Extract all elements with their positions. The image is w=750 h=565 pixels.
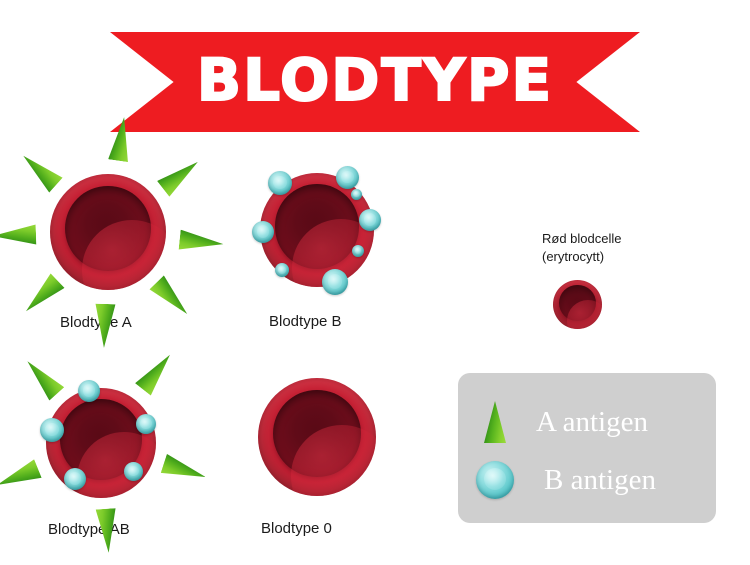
page-title: BLODTYPE <box>110 32 640 132</box>
erythrocyte-figure <box>553 280 603 330</box>
title-banner: BLODTYPE <box>110 32 640 132</box>
b-antigen-bead-icon <box>322 269 348 295</box>
cell-stage-a <box>28 152 188 312</box>
b-antigen-bead-icon <box>268 171 292 195</box>
cell-caption-b: Blodtype B <box>269 313 342 330</box>
cyan-circle-icon <box>476 461 514 499</box>
legend-item-a-antigen: A antigen <box>484 401 648 443</box>
cell-stage-ab <box>26 368 176 518</box>
red-blood-cell-icon <box>46 388 156 498</box>
b-antigen-bead-icon <box>359 209 381 231</box>
b-antigen-bead-icon <box>252 221 274 243</box>
b-antigen-bead-icon <box>136 414 156 434</box>
cell-stage-b <box>252 165 382 295</box>
b-antigen-bead-icon <box>351 189 362 200</box>
b-antigen-bead-icon <box>78 380 100 402</box>
b-antigen-bead-icon <box>352 245 364 257</box>
erythrocyte-label-line1: Rød blodcelle <box>542 230 622 248</box>
cell-stage-erythrocyte <box>553 280 603 330</box>
erythrocyte-label: Rød blodcelle (erytrocytt) <box>542 230 622 265</box>
cell-caption-a: Blodtype A <box>60 314 132 331</box>
blood-cell-figure-b: Blodtype B <box>252 165 382 295</box>
b-antigen-bead-icon <box>124 462 143 481</box>
red-blood-cell-icon <box>50 174 166 290</box>
b-antigen-bead-icon <box>40 418 64 442</box>
cell-caption-0: Blodtype 0 <box>261 520 332 537</box>
red-blood-cell-icon <box>258 378 376 496</box>
red-blood-cell-icon <box>553 280 602 329</box>
cell-caption-ab: Blodtype AB <box>48 521 130 538</box>
legend-item-b-antigen: B antigen <box>476 461 656 499</box>
green-triangle-icon <box>484 401 506 443</box>
legend-label-a-antigen: A antigen <box>536 406 648 439</box>
erythrocyte-label-line2: (erytrocytt) <box>542 248 622 266</box>
blood-cell-figure-ab: Blodtype AB <box>26 368 176 518</box>
blood-cell-figure-a: Blodtype A <box>28 152 188 312</box>
b-antigen-bead-icon <box>275 263 289 277</box>
b-antigen-bead-icon <box>64 468 86 490</box>
b-antigen-bead-icon <box>336 166 359 189</box>
blood-cell-figure-0: Blodtype 0 <box>258 378 378 498</box>
legend-label-b-antigen: B antigen <box>544 464 656 497</box>
cell-stage-0 <box>258 378 378 498</box>
antigen-legend: A antigen B antigen <box>458 373 716 523</box>
